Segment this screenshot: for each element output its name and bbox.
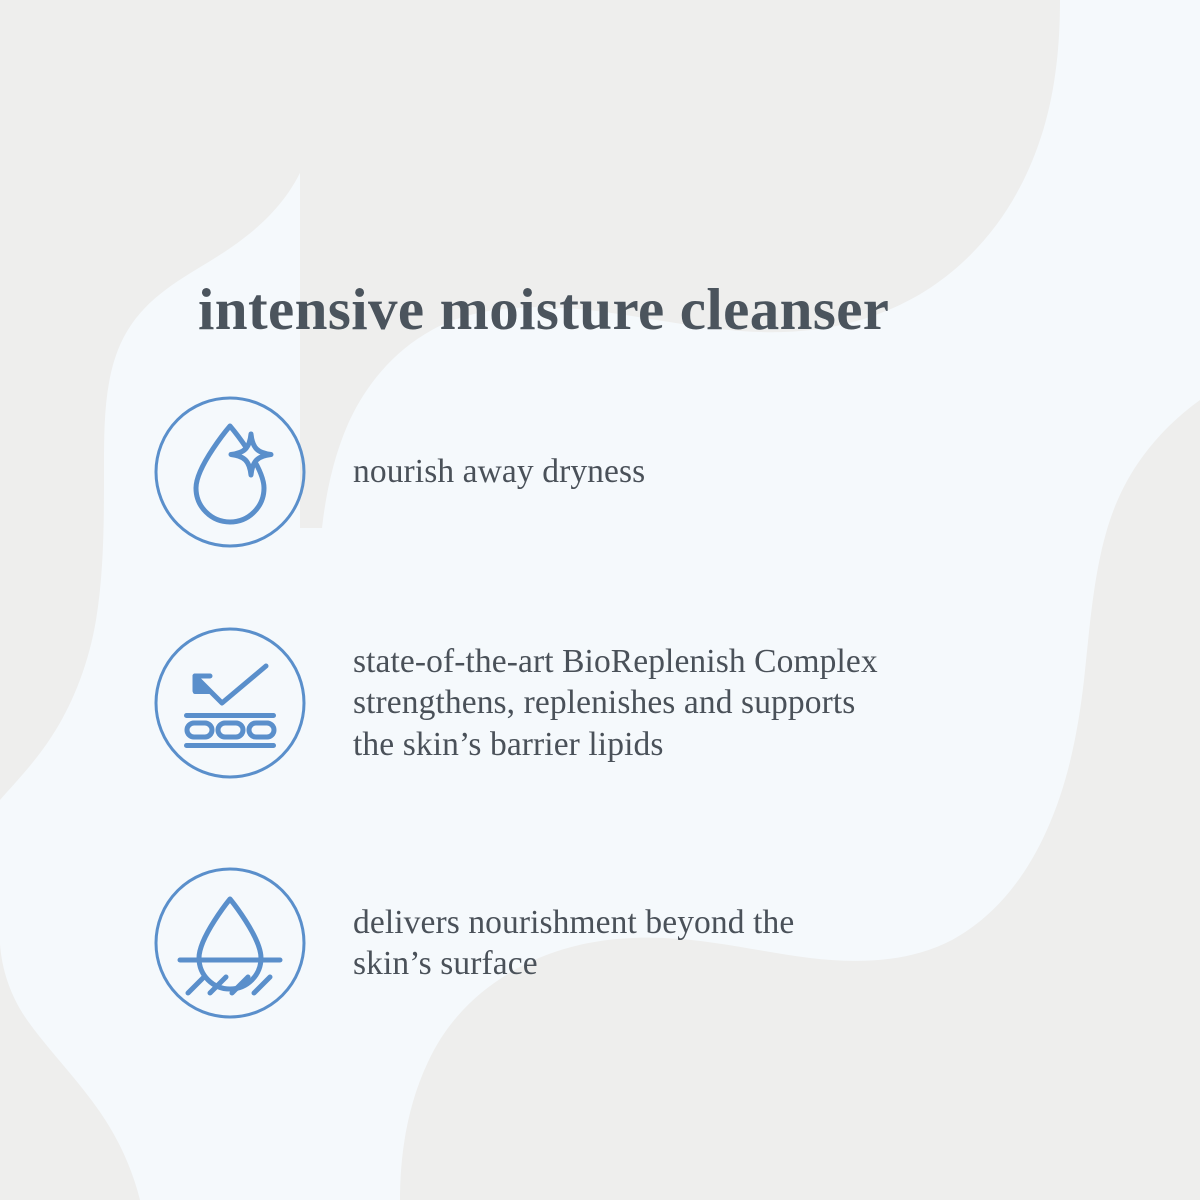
droplet-absorb-icon [152, 865, 308, 1021]
skin-layers-arrow-icon [152, 625, 308, 781]
feature-text-line: strengthens, replenishes and supports [353, 682, 1082, 723]
feature-text-line: state-of-the-art BioReplenish Complex [353, 641, 1082, 682]
feature-text-line: the skin’s barrier lipids [353, 724, 1082, 765]
feature-text: nourish away dryness [353, 451, 1082, 492]
feature-text: state-of-the-art BioReplenish Complex st… [353, 641, 1082, 765]
feature-list: nourish away dryness state-of-t [0, 0, 1200, 1200]
feature-text: delivers nourishment beyond the skin’s s… [353, 902, 1082, 984]
feature-item-delivers-nourishment: delivers nourishment beyond the skin’s s… [152, 865, 1082, 1021]
feature-text-line: delivers nourishment beyond the [353, 902, 1082, 943]
droplet-sparkle-icon [152, 394, 308, 550]
feature-text-line: skin’s surface [353, 943, 1082, 984]
feature-item-nourish-away-dryness: nourish away dryness [152, 394, 1082, 550]
product-benefits-infographic: intensive moisture cleanser nourish away… [0, 0, 1200, 1200]
feature-item-bioreplenish-complex: state-of-the-art BioReplenish Complex st… [152, 625, 1082, 781]
feature-text-line: nourish away dryness [353, 451, 1082, 492]
